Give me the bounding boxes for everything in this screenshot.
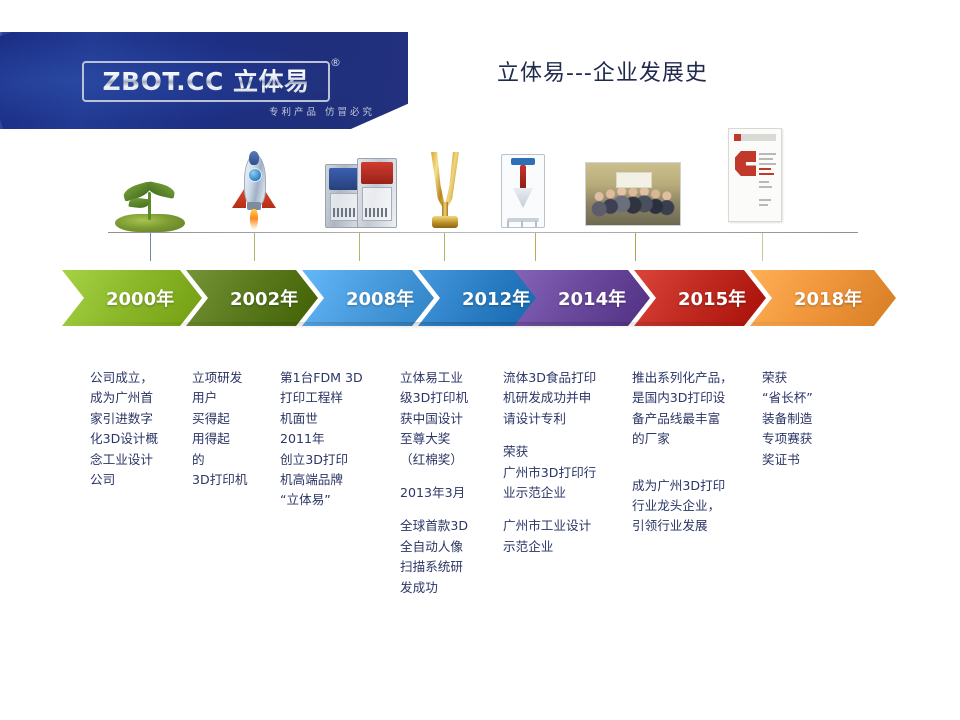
printer-grill	[333, 208, 355, 217]
milestone-paragraph: 立项研发 用户 买得起 用得起 的 3D打印机	[192, 368, 276, 490]
certificate-icon	[728, 128, 782, 222]
certificate-text-line	[759, 168, 771, 170]
milestone-paragraph: 广州市工业设计 示范企业	[503, 516, 629, 557]
certificate-text-line	[759, 163, 776, 165]
certificate-text-line	[759, 204, 768, 206]
timeline-year-label: 2002年	[230, 285, 298, 311]
timeline-tick-2008	[359, 233, 360, 261]
milestone-icon-2018	[700, 120, 810, 230]
milestone-icon-2000	[108, 132, 192, 232]
rocket-nose	[249, 151, 259, 165]
milestone-text-2015: 推出系列化产品， 是国内3D打印设 备产品线最丰富 的厂家 成为广州3D打印 行…	[632, 368, 760, 537]
timeline-year-label: 2000年	[106, 285, 174, 311]
milestone-icon-2015	[578, 132, 688, 232]
timeline-year-label: 2015年	[678, 285, 746, 311]
milestone-text-2012: 立体易工业 级3D打印机 获中国设计 至尊大奖 （红棉奖） 2013年3月 全球…	[400, 368, 500, 598]
timeline-arrow-band: 2000年 2002年 2008年 2012年 2014年 2015年 2018…	[0, 270, 960, 326]
timeline-arrow-2015[interactable]: 2015年	[634, 270, 766, 326]
rocket-flame	[250, 209, 258, 230]
timeline-tick-2014	[535, 233, 536, 261]
timeline-tick-2012	[444, 233, 445, 261]
sprout-stem	[148, 192, 151, 220]
photo-plaque	[616, 172, 652, 188]
food-printer-cartridge	[520, 165, 526, 189]
certificate-text-line	[759, 186, 772, 188]
printer-unit-right	[357, 158, 397, 228]
milestone-icon-row	[0, 132, 960, 232]
trophy-icon	[427, 152, 463, 232]
milestone-paragraph: 成为广州3D打印 行业龙头企业， 引领行业发展	[632, 476, 760, 537]
food-printer-icon	[495, 152, 551, 232]
milestone-icon-2008	[318, 132, 402, 232]
certificate-text-line	[759, 181, 769, 183]
timeline-year-label: 2014年	[558, 285, 626, 311]
timeline-arrow-2002[interactable]: 2002年	[186, 270, 318, 326]
timeline-axis-line	[108, 232, 858, 233]
milestone-paragraph: 推出系列化产品， 是国内3D打印设 备产品线最丰富 的厂家	[632, 368, 760, 450]
timeline-tick-2000	[150, 233, 151, 261]
milestone-text-2014: 流体3D食品打印 机研发成功并申 请设计专利 荣获 广州市3D打印行 业示范企业…	[503, 368, 629, 557]
milestone-icon-2012	[408, 132, 482, 232]
milestone-text-2018: 荣获 “省长杯” 装备制造 专项赛获 奖证书	[762, 368, 852, 470]
milestone-paragraph: 2013年3月	[400, 483, 500, 503]
milestone-paragraph: 公司成立， 成为广州首 家引进数字 化3D设计概 念工业设计 公司	[90, 368, 188, 490]
milestone-paragraph: 全球首款3D 全自动人像 扫描系统研 发成功	[400, 516, 500, 598]
timeline-tick-2002	[254, 233, 255, 261]
certificate-text-line	[759, 173, 774, 175]
milestone-text-2000: 公司成立， 成为广州首 家引进数字 化3D设计概 念工业设计 公司	[90, 368, 188, 490]
printer-icon	[323, 154, 397, 232]
timeline-tick-2015	[635, 233, 636, 261]
certificate-g-logo	[735, 151, 756, 176]
sprout-icon	[113, 176, 187, 232]
certificate-text-line	[759, 199, 771, 201]
milestone-paragraph: 荣获 “省长杯” 装备制造 专项赛获 奖证书	[762, 368, 852, 470]
sprout-leaf	[128, 197, 149, 210]
certificate-text-line	[759, 158, 773, 160]
brand-logo-text: ZBOT.CC 立体易	[102, 69, 309, 94]
food-printer-legs	[507, 221, 539, 227]
timeline-year-label: 2018年	[794, 285, 862, 311]
printer-grill	[365, 208, 389, 217]
slide-canvas: ZBOT.CC 立体易 ® 专利产品 仿冒必究 立体易---企业发展史	[0, 0, 960, 720]
brand-tagline: 专利产品 仿冒必究	[215, 104, 375, 118]
timeline-year-label: 2008年	[346, 285, 414, 311]
timeline-tick-2018	[762, 233, 763, 261]
milestone-icon-2002	[212, 132, 296, 232]
milestone-paragraph: 立体易工业 级3D打印机 获中国设计 至尊大奖 （红棉奖）	[400, 368, 500, 470]
timeline-arrow-2000[interactable]: 2000年	[62, 270, 202, 326]
milestone-paragraph: 荣获 广州市3D打印行 业示范企业	[503, 442, 629, 503]
milestone-text-2008: 第1台FDM 3D 打印工程样 机面世 2011年 创立3D打印 机高端品牌 “…	[280, 368, 394, 511]
logo-frame: ZBOT.CC 立体易	[82, 61, 330, 102]
milestone-text-2002: 立项研发 用户 买得起 用得起 的 3D打印机	[192, 368, 276, 490]
group-photo-icon	[585, 162, 681, 226]
trophy-cup	[431, 152, 459, 206]
milestone-paragraph: 流体3D食品打印 机研发成功并申 请设计专利	[503, 368, 629, 429]
certificate-text-line	[759, 153, 776, 155]
timeline-year-label: 2012年	[462, 285, 530, 311]
rocket-window	[248, 168, 262, 182]
printer-top-panel	[329, 168, 359, 190]
trophy-base	[432, 216, 458, 228]
timeline-arrow-2008[interactable]: 2008年	[302, 270, 434, 326]
printer-top-panel	[361, 162, 393, 184]
milestone-icon-2014	[486, 132, 560, 232]
certificate-header-bar	[734, 134, 776, 141]
page-title: 立体易---企业发展史	[497, 55, 708, 87]
registered-trademark-icon: ®	[330, 56, 341, 69]
timeline-arrow-2018[interactable]: 2018年	[750, 270, 896, 326]
food-printer-cap	[511, 158, 535, 165]
brand-banner: ZBOT.CC 立体易 ® 专利产品 仿冒必究	[0, 32, 408, 129]
milestone-text-columns: 公司成立， 成为广州首 家引进数字 化3D设计概 念工业设计 公司 立项研发 用…	[0, 368, 960, 628]
milestone-paragraph: 第1台FDM 3D 打印工程样 机面世 2011年 创立3D打印 机高端品牌 “…	[280, 368, 394, 511]
arrow-band-shadow	[62, 322, 852, 329]
rocket-icon	[231, 152, 277, 232]
